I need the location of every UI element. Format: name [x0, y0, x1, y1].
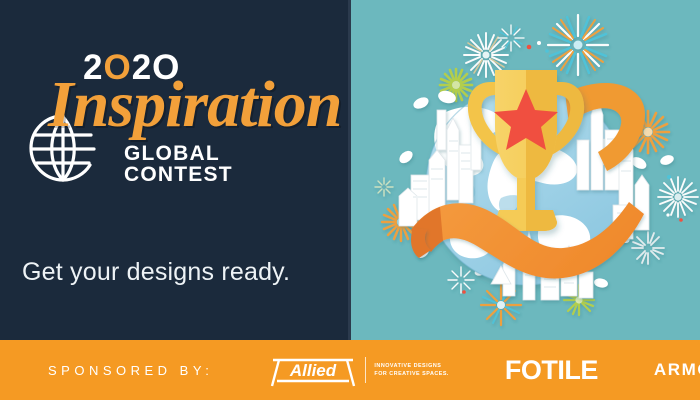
illustration-panel	[351, 0, 700, 340]
allied-tagline-line-1: INNOVATIVE DESIGNS	[374, 362, 449, 370]
promo-banner: 2O2O Inspiration GLOBAL CONTEST Get your…	[0, 0, 700, 400]
sponsor-logo-armony[interactable]: ARMONY	[654, 360, 700, 380]
allied-wordmark-icon: Allied	[269, 351, 357, 389]
contest-logo: 2O2O Inspiration GLOBAL CONTEST	[28, 50, 328, 175]
tagline-text: Get your designs ready.	[22, 258, 290, 287]
sponsor-bar: SPONSORED BY: Allied INNOVATIVE DE	[0, 340, 700, 400]
svg-text:Allied: Allied	[289, 361, 337, 380]
globe-trophy-illustration	[351, 0, 700, 340]
sponsored-by-label: SPONSORED BY:	[48, 363, 213, 378]
sponsor-logo-allied[interactable]: Allied INNOVATIVE DESIGNS FOR CREATIVE S…	[269, 351, 449, 389]
logo-script-word: Inspiration	[48, 72, 341, 138]
allied-divider	[365, 357, 366, 383]
allied-tagline-line-2: FOR CREATIVE SPACES.	[374, 370, 449, 378]
sponsor-logo-fotile[interactable]: FOTILE	[505, 355, 598, 386]
logo-contest-label: GLOBAL CONTEST	[124, 143, 328, 185]
left-text-panel: 2O2O Inspiration GLOBAL CONTEST Get your…	[0, 0, 348, 340]
